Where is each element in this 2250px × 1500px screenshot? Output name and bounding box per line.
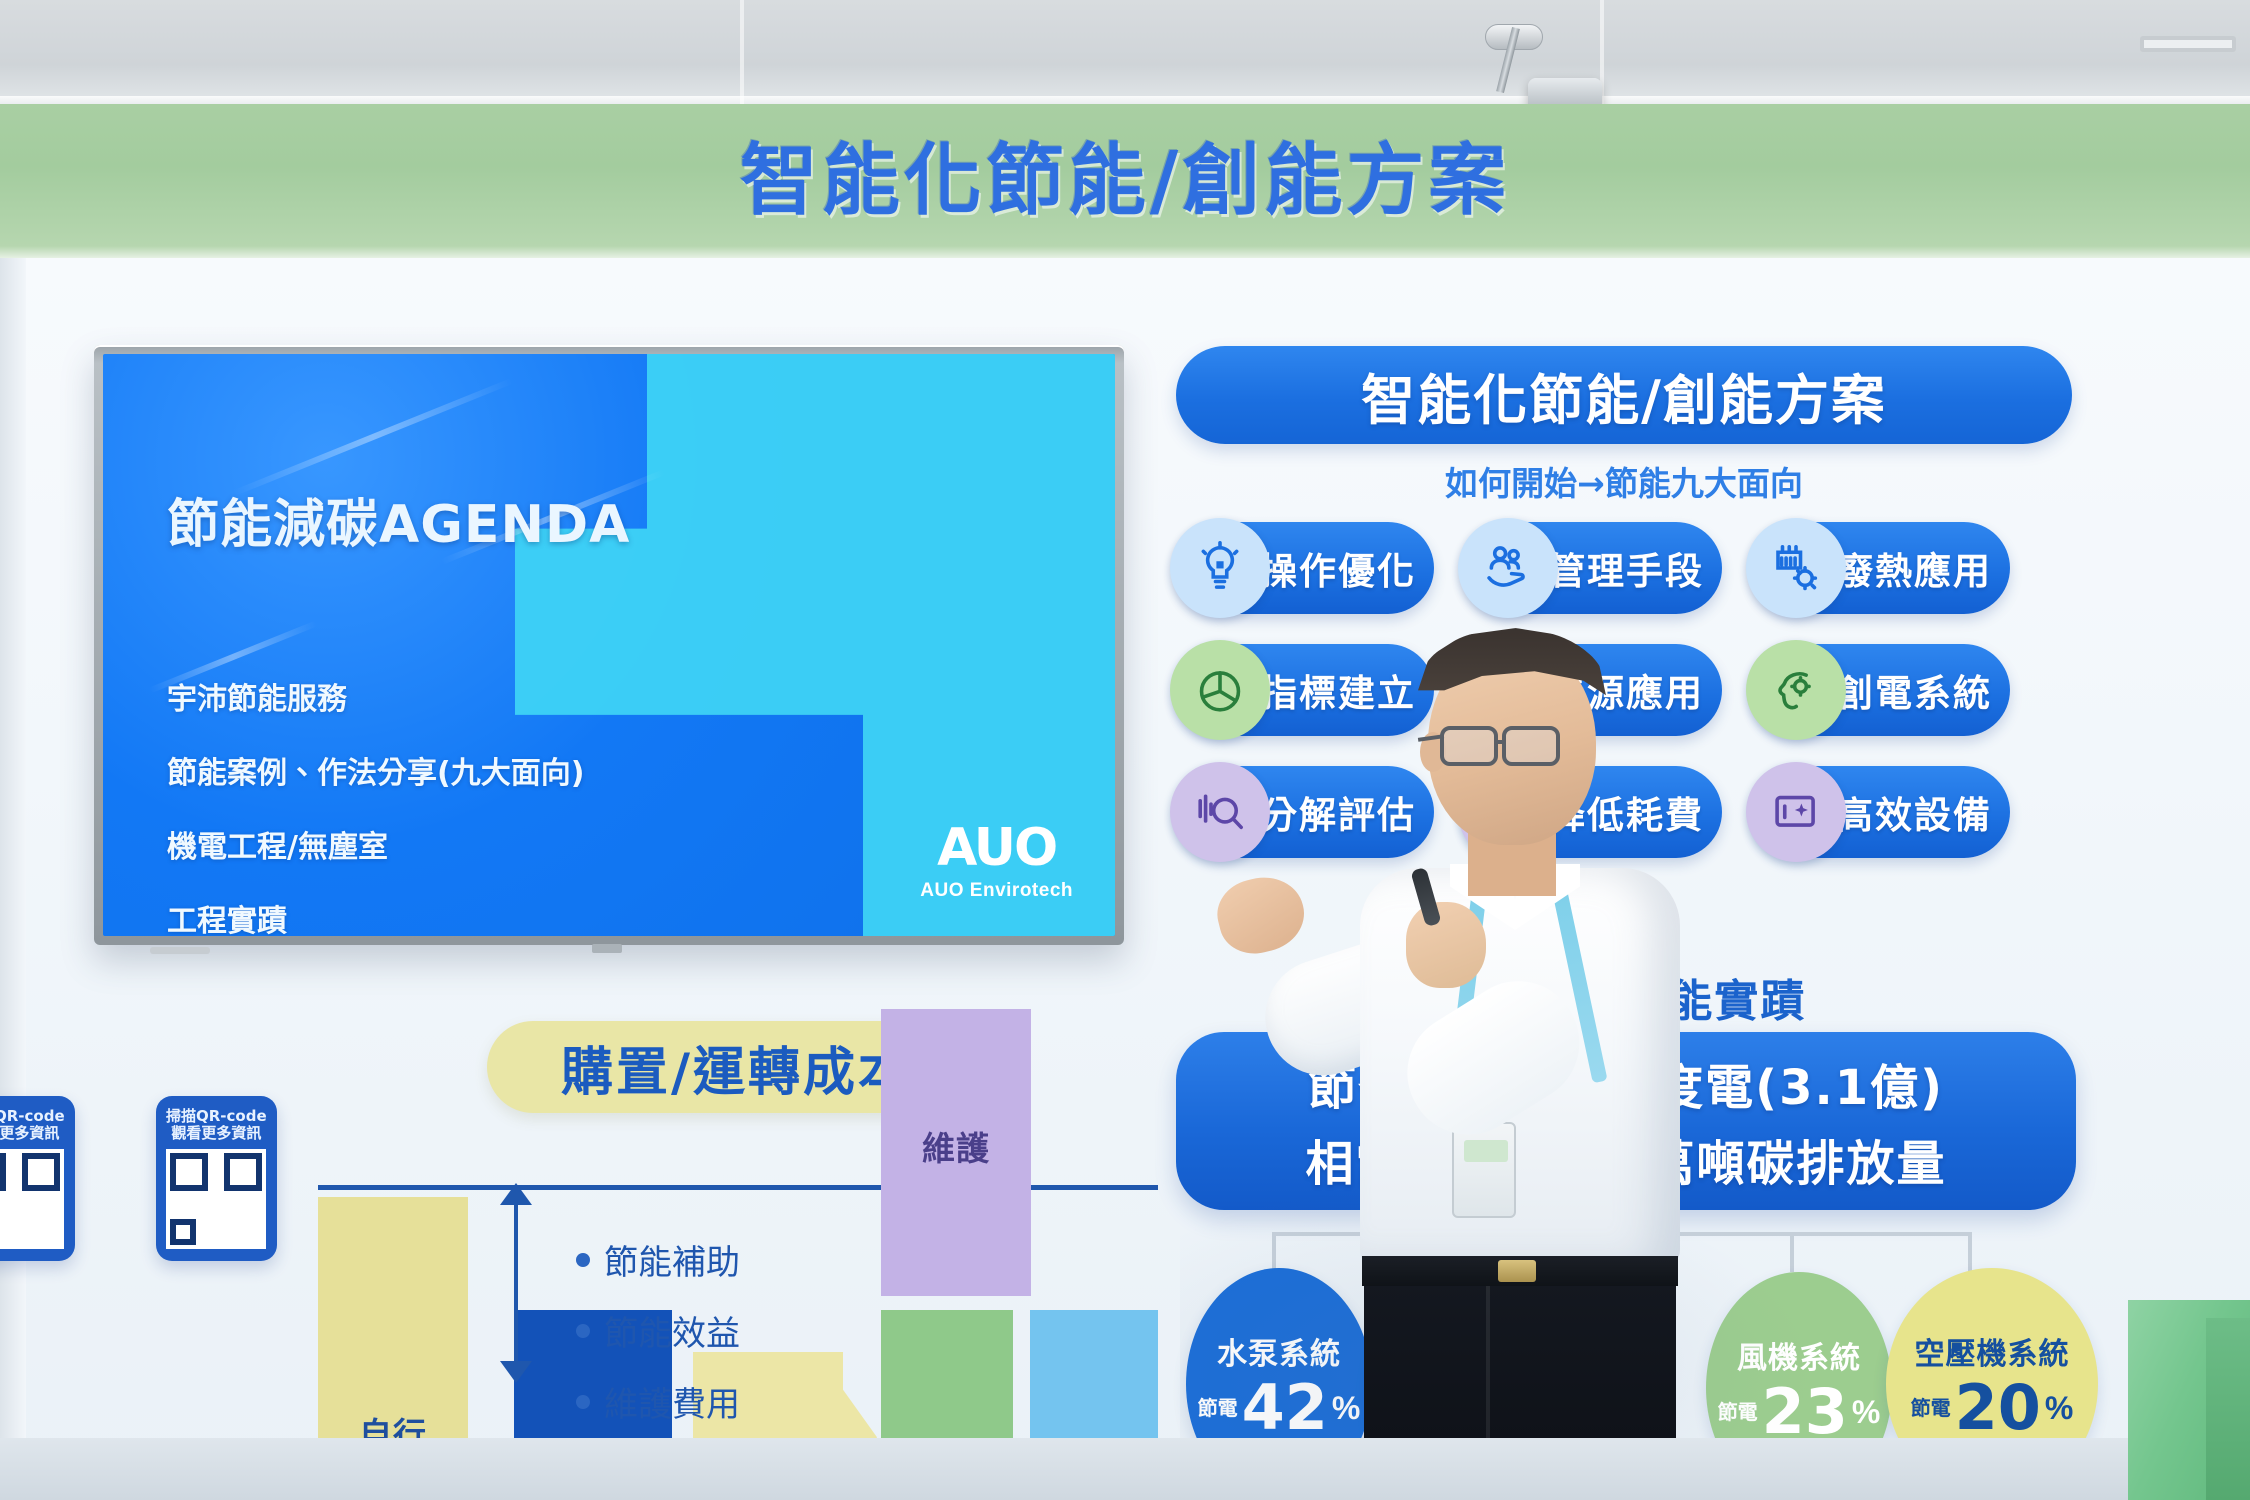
- slide-light-streak: [233, 378, 513, 496]
- cost-note-label: 維護費用: [604, 1377, 740, 1426]
- stat-bubble-value-row: 節電 20 %: [1911, 1377, 2074, 1439]
- bubble-connector-stem: [1968, 1232, 1972, 1272]
- bullet-dot-icon: [576, 1395, 590, 1409]
- exhibition-booth-scene: 智能化節能/創能方案 節能減碳AGENDA 宇沛節能服務 節能案例、作法分享(九…: [0, 0, 2250, 1500]
- aspect-chip-label: 廢熱應用: [1836, 541, 1992, 595]
- stat-bubble-unit: %: [1852, 1394, 1880, 1431]
- qr-code-card[interactable]: 掃描QR-code 觀看更多資訊: [156, 1096, 277, 1261]
- aspect-chip-operation-optimization[interactable]: 操作優化: [1176, 522, 1434, 614]
- cost-note-item: 節能補助: [576, 1235, 740, 1284]
- aspect-chip-high-efficiency-equipment[interactable]: 高效設備: [1752, 766, 2010, 858]
- presenter-belt-buckle: [1498, 1260, 1536, 1282]
- lightbulb-icon: [1170, 518, 1270, 618]
- panel-subheading: 如何開始→節能九大面向: [1176, 457, 2072, 505]
- slide-title: 節能減碳AGENDA: [167, 482, 630, 557]
- people-hand-icon: [1458, 518, 1558, 618]
- cost-note-label: 節能效益: [604, 1306, 740, 1355]
- chart-top-axis: [318, 1185, 1158, 1190]
- stat-bubble-system: 空壓機系統: [1915, 1329, 2070, 1373]
- aspect-chip-management-methods[interactable]: 管理手段: [1464, 522, 1722, 614]
- pie-chart-icon: [1170, 640, 1270, 740]
- panel-spark-icon: [1746, 762, 1846, 862]
- bullet-dot-icon: [576, 1253, 590, 1267]
- presenter-eyeglass-left: [1440, 726, 1498, 766]
- presenter: [1300, 640, 1730, 1500]
- floor: [0, 1438, 2250, 1500]
- auo-logo-mark: AUO: [920, 818, 1073, 878]
- brain-gear-icon: [1746, 640, 1846, 740]
- presenter-eyeglass-bridge: [1498, 740, 1506, 744]
- tv-status-led: [592, 944, 622, 953]
- savings-gap-arrow-line: [514, 1187, 518, 1379]
- slide-bullet-item: 節能案例、作法分享(九大面向): [167, 748, 584, 792]
- cost-note-item: 維護費用: [576, 1377, 740, 1426]
- chart-bar-label: 維護: [922, 1130, 990, 1168]
- bullet-dot-icon: [576, 1324, 590, 1338]
- stat-bubble-value-row: 節電 23 %: [1718, 1381, 1881, 1443]
- stat-bubble-metric: 節電: [1911, 1399, 1951, 1418]
- ceiling-rail-bracket: [2140, 36, 2236, 52]
- aspect-chip-waste-heat-application[interactable]: 廢熱應用: [1752, 522, 2010, 614]
- bubble-connector-stem: [1790, 1232, 1794, 1272]
- presenter-id-badge: [1452, 1122, 1516, 1218]
- tv-monitor[interactable]: 節能減碳AGENDA 宇沛節能服務 節能案例、作法分享(九大面向) 機電工程/無…: [94, 345, 1124, 945]
- chart-bar-maintenance: 維護: [881, 1009, 1031, 1296]
- auo-logo: AUO AUO Envirotech: [920, 818, 1073, 902]
- aspect-chip-label: 管理手段: [1548, 541, 1704, 595]
- qr-code-image: [166, 1149, 266, 1249]
- presenter-eyeglass-right: [1502, 726, 1560, 766]
- stat-bubble-value: 23: [1762, 1381, 1848, 1443]
- savings-gap-arrow-down: [500, 1361, 532, 1383]
- factory-gear-icon: [1746, 518, 1846, 618]
- stat-bubble-system: 風機系統: [1737, 1333, 1861, 1377]
- cost-note-item: 節能效益: [576, 1306, 740, 1355]
- aspect-chip-label: 創電系統: [1836, 663, 1992, 717]
- wall-left-edge: [0, 258, 26, 1500]
- tv-screen: 節能減碳AGENDA 宇沛節能服務 節能案例、作法分享(九大面向) 機電工程/無…: [103, 354, 1115, 936]
- panel-headline-pill: 智能化節能/創能方案: [1176, 346, 2072, 444]
- slide-bullet-list: 宇沛節能服務 節能案例、作法分享(九大面向) 機電工程/無塵室 工程實蹟: [167, 674, 584, 936]
- tv-bottom-strip: [150, 947, 210, 954]
- aspect-chip-power-generation-system[interactable]: 創電系統: [1752, 644, 2010, 736]
- slide-bullet-item: 工程實蹟: [167, 896, 584, 936]
- aspect-chip-label: 高效設備: [1836, 785, 1992, 839]
- cost-notes-list: 節能補助 節能效益 維護費用: [576, 1235, 740, 1426]
- presenter-left-hand: [1406, 902, 1486, 988]
- savings-gap-arrow-up: [500, 1183, 532, 1205]
- stat-bubble-value: 20: [1955, 1377, 2041, 1439]
- auo-logo-subtitle: AUO Envirotech: [920, 880, 1073, 902]
- bubble-connector-stem: [1272, 1232, 1276, 1272]
- cost-section-title: 購置/運轉成本: [561, 1030, 913, 1105]
- qr-code-image: [0, 1149, 64, 1249]
- aspect-chip-label: 操作優化: [1260, 541, 1416, 595]
- magnifier-data-icon: [1170, 762, 1270, 862]
- stat-bubble-unit: %: [2045, 1390, 2073, 1427]
- ceiling-panel-line: [740, 0, 744, 118]
- panel-headline-text: 智能化節能/創能方案: [1361, 356, 1887, 435]
- booth-main-title: 智能化節能/創能方案: [0, 118, 2250, 230]
- green-display-block-side: [2206, 1318, 2250, 1500]
- slide-bullet-item: 宇沛節能服務: [167, 674, 584, 718]
- slide-bullet-item: 機電工程/無塵室: [167, 822, 584, 866]
- qr-code-card[interactable]: 掃描QR-code 觀看更多資訊: [0, 1096, 75, 1261]
- qr-code-caption: 掃描QR-code 觀看更多資訊: [166, 1108, 267, 1143]
- qr-code-caption: 掃描QR-code 觀看更多資訊: [0, 1108, 65, 1143]
- cost-note-label: 節能補助: [604, 1235, 740, 1284]
- stat-bubble-metric: 節電: [1198, 1399, 1238, 1418]
